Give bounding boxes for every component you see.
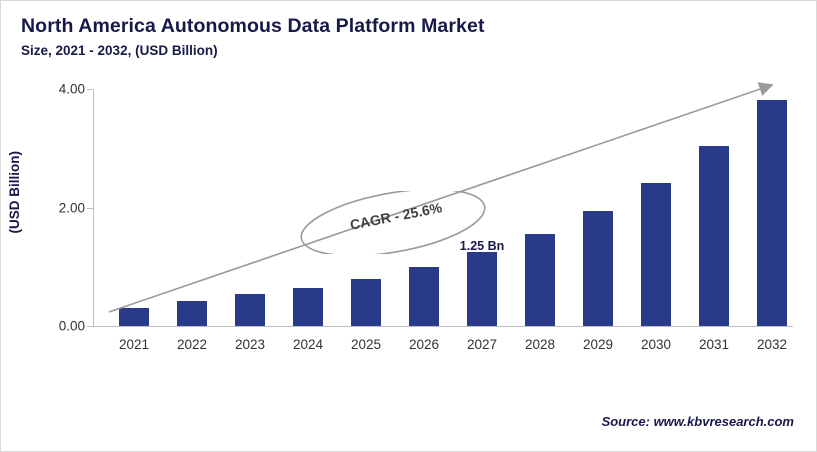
x-tick-2024: 2024 [278, 337, 338, 352]
x-tick-2031: 2031 [684, 337, 744, 352]
x-tick-2023: 2023 [220, 337, 280, 352]
x-tick-2026: 2026 [394, 337, 454, 352]
x-tick-2025: 2025 [336, 337, 396, 352]
x-tick-2021: 2021 [104, 337, 164, 352]
x-tick-2032: 2032 [742, 337, 802, 352]
data-label-2027: 1.25 Bn [442, 239, 522, 253]
x-tick-2030: 2030 [626, 337, 686, 352]
page-subtitle: Size, 2021 - 2032, (USD Billion) [21, 43, 218, 58]
page-title: North America Autonomous Data Platform M… [21, 15, 485, 38]
x-tick-2028: 2028 [510, 337, 570, 352]
x-tick-2027: 2027 [452, 337, 512, 352]
chart-container: North America Autonomous Data Platform M… [0, 0, 817, 452]
x-tick-2022: 2022 [162, 337, 222, 352]
x-tick-2029: 2029 [568, 337, 628, 352]
y-axis-title: (USD Billion) [7, 151, 22, 234]
source-label: Source: www.kbvresearch.com [602, 414, 794, 429]
